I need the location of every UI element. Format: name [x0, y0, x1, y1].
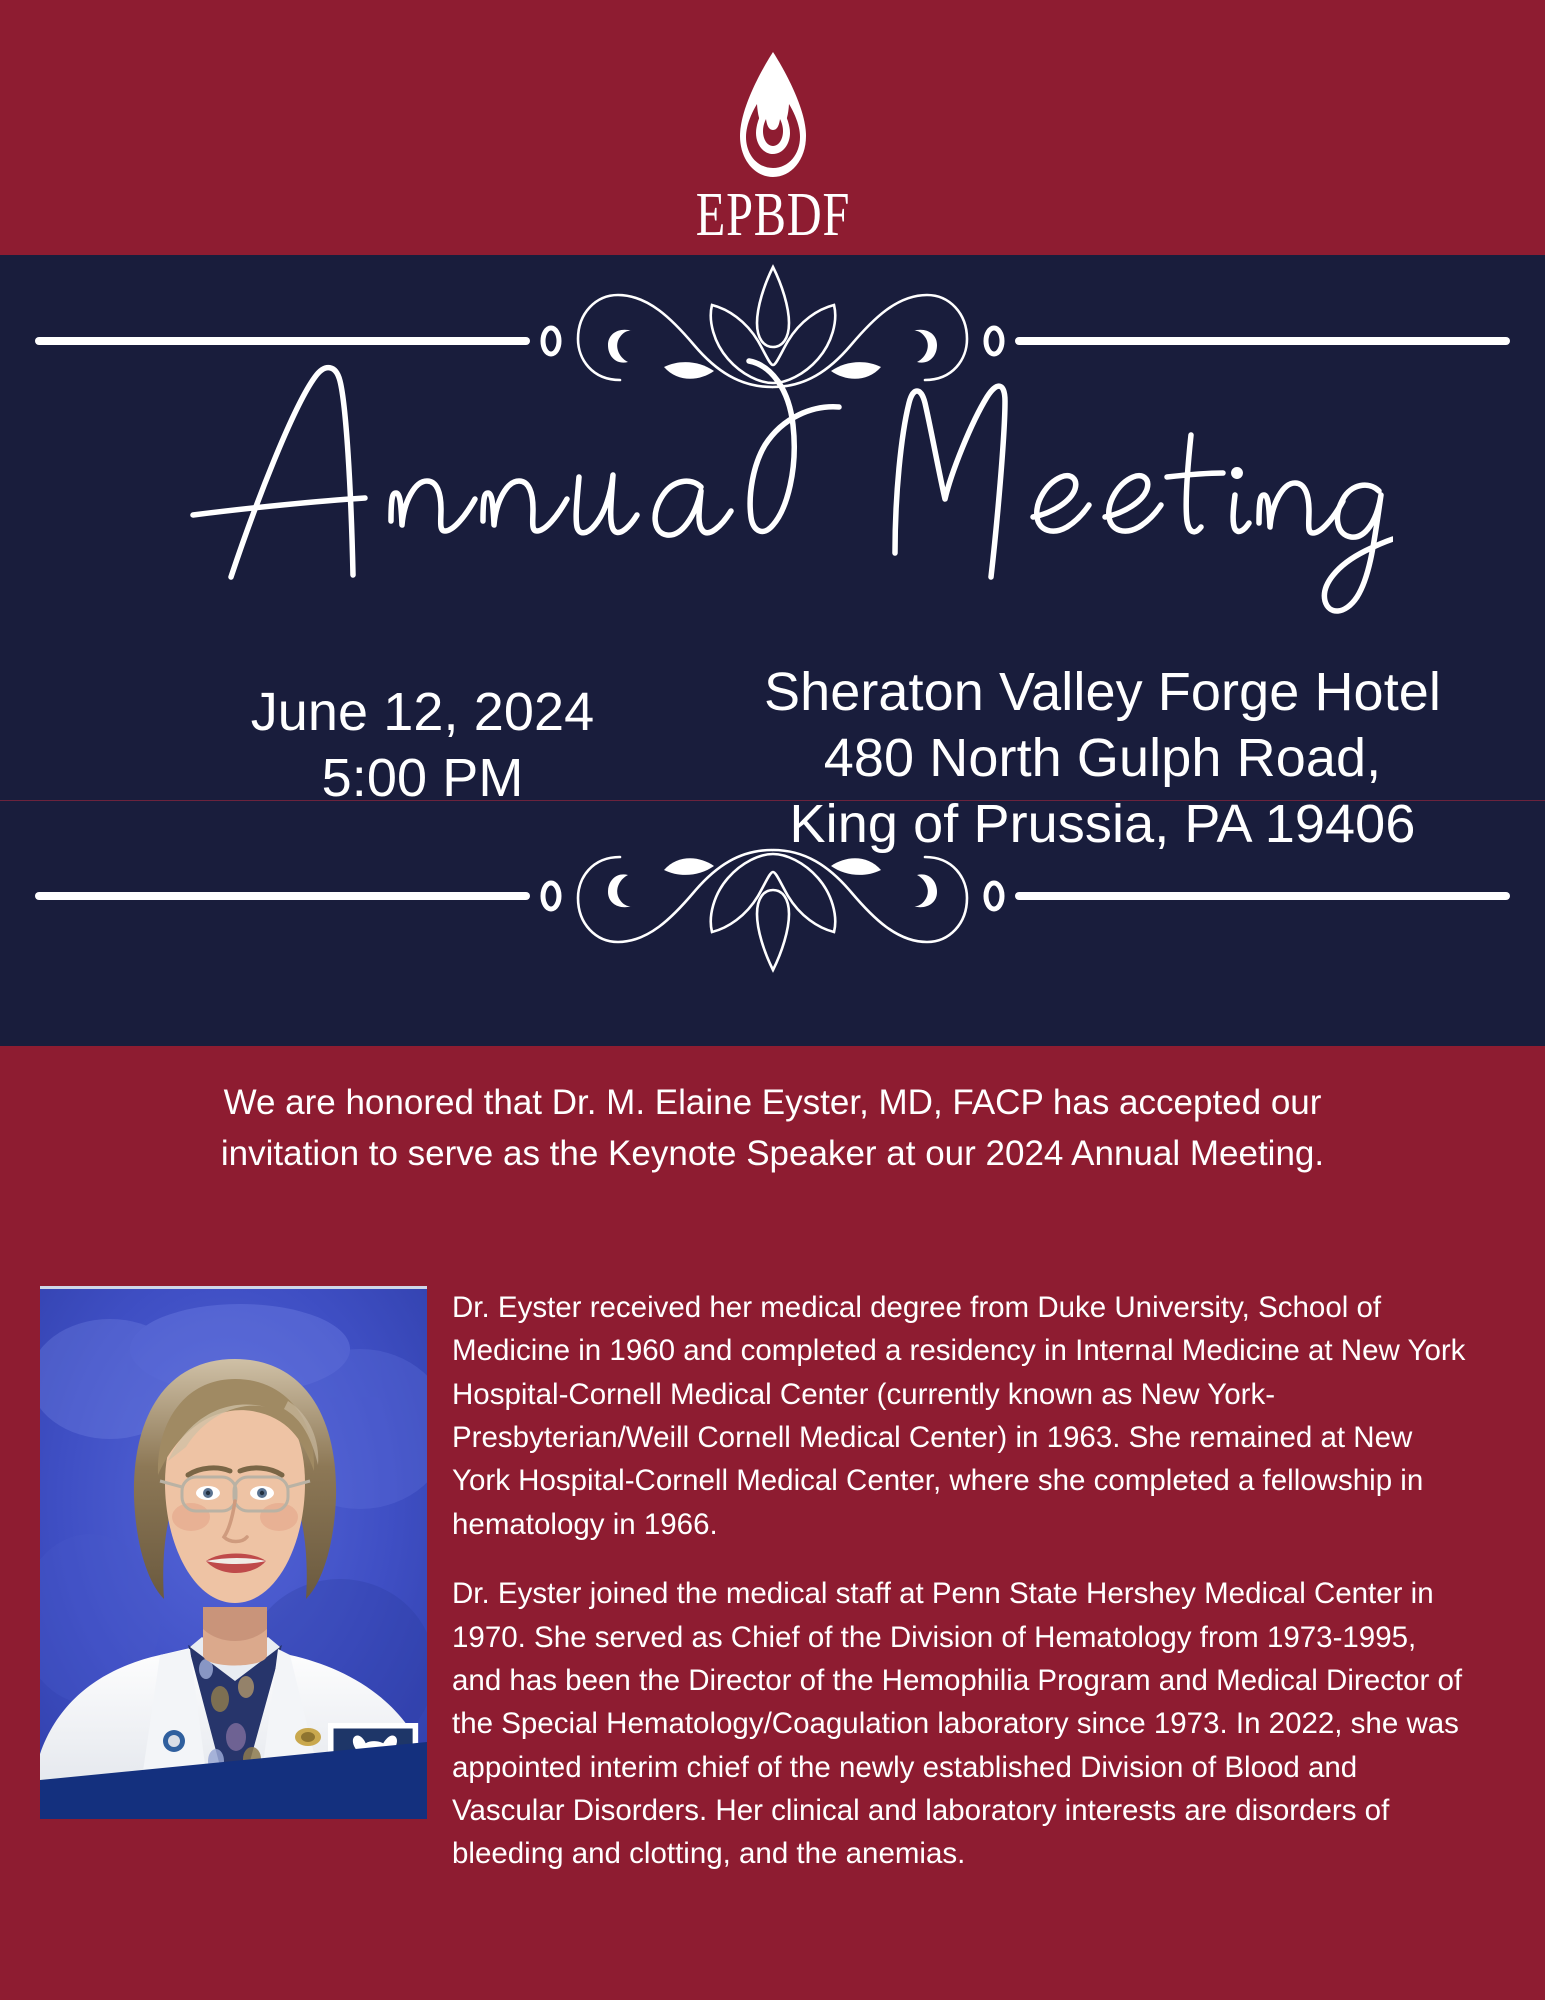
speaker-bio-area: Dr. Eyster received her medical degree f…: [0, 1286, 1545, 1876]
annual-meeting-flyer: EPBDF: [0, 0, 1545, 2000]
flourish-divider-icon: [0, 830, 1545, 990]
event-date-block: June 12, 2024 5:00 PM: [93, 660, 753, 812]
blood-drop-icon: [732, 50, 814, 180]
bio-band: We are honored that Dr. M. Elaine Eyster…: [0, 1046, 1545, 2000]
event-time: 5:00 PM: [93, 746, 753, 812]
hero-title: [0, 325, 1545, 625]
event-date: June 12, 2024: [93, 680, 753, 746]
keynote-line-2: invitation to serve as the Keynote Speak…: [60, 1129, 1485, 1180]
speaker-photo: [40, 1286, 427, 1819]
org-abbreviation: EPBDF: [695, 184, 849, 246]
hero-band: June 12, 2024 5:00 PM Sheraton Valley Fo…: [0, 255, 1545, 1046]
annual-meeting-script: [153, 325, 1393, 625]
venue-street: 480 North Gulph Road,: [753, 726, 1453, 792]
venue-name: Sheraton Valley Forge Hotel: [753, 660, 1453, 726]
epbdf-logo: EPBDF: [674, 50, 872, 246]
portrait-image: [40, 1289, 427, 1819]
speaker-bio-text: Dr. Eyster received her medical degree f…: [452, 1286, 1472, 1876]
logo-header-band: EPBDF: [0, 0, 1545, 255]
keynote-line-1: We are honored that Dr. M. Elaine Eyster…: [60, 1078, 1485, 1129]
bio-paragraph-1: Dr. Eyster received her medical degree f…: [452, 1286, 1472, 1546]
event-venue-block: Sheraton Valley Forge Hotel 480 North Gu…: [753, 660, 1453, 858]
keynote-announcement: We are honored that Dr. M. Elaine Eyster…: [60, 1078, 1485, 1180]
bio-paragraph-2: Dr. Eyster joined the medical staff at P…: [452, 1572, 1472, 1876]
event-details: June 12, 2024 5:00 PM Sheraton Valley Fo…: [0, 660, 1545, 858]
